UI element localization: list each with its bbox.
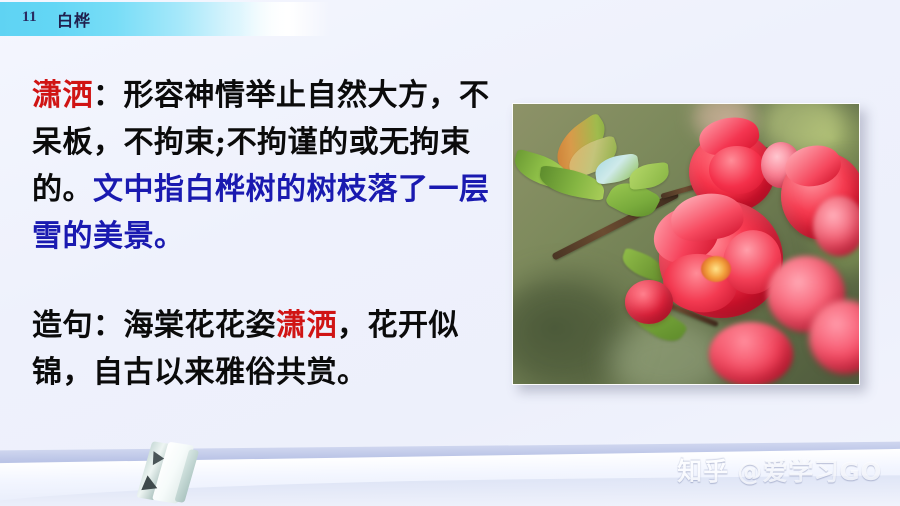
flower-bud	[625, 280, 673, 324]
header-bar	[0, 2, 290, 36]
flower-photo-frame	[512, 103, 860, 385]
keyword-xiaosa-red-2: 潇洒	[276, 308, 337, 343]
definition-paragraph: 潇洒：形容神情举止自然大方，不呆板，不拘束;不拘谨的或无拘束的。文中指白桦树的树…	[32, 72, 494, 260]
definition-text-blue: 文中指白桦树的树枝落了一层雪的美景。	[32, 172, 490, 254]
watermark-handle: @爱学习GO	[737, 452, 882, 488]
keyword-xiaosa-red: 潇洒	[32, 78, 93, 113]
presentation-slide: 11 白桦 潇洒：形容神情举止自然大方，不呆板，不拘束;不拘谨的或无拘束的。文中…	[0, 0, 900, 506]
flower-stamen	[701, 256, 731, 282]
watermark: 知乎 @爱学习GO	[677, 452, 882, 488]
flower-blossom-blurred	[709, 322, 793, 384]
flower-photo	[513, 104, 859, 384]
flower-petal	[709, 146, 765, 194]
ribbon-ornament	[136, 440, 200, 506]
text-content-block: 潇洒：形容神情举止自然大方，不呆板，不拘束;不拘谨的或无拘束的。文中指白桦树的树…	[32, 72, 494, 396]
lesson-number: 11	[22, 9, 37, 26]
example-label: 造句：	[32, 308, 124, 343]
page-title: 白桦	[57, 7, 91, 31]
example-sentence-paragraph: 造句：海棠花花姿潇洒，花开似锦，自古以来雅俗共赏。	[32, 302, 494, 396]
ribbon-accent-icon	[153, 451, 165, 466]
definition-separator: ：	[93, 78, 124, 113]
flower-blossom-blurred	[813, 196, 859, 256]
example-text-before: 海棠花花姿	[124, 308, 277, 343]
watermark-site: 知乎	[677, 452, 729, 488]
